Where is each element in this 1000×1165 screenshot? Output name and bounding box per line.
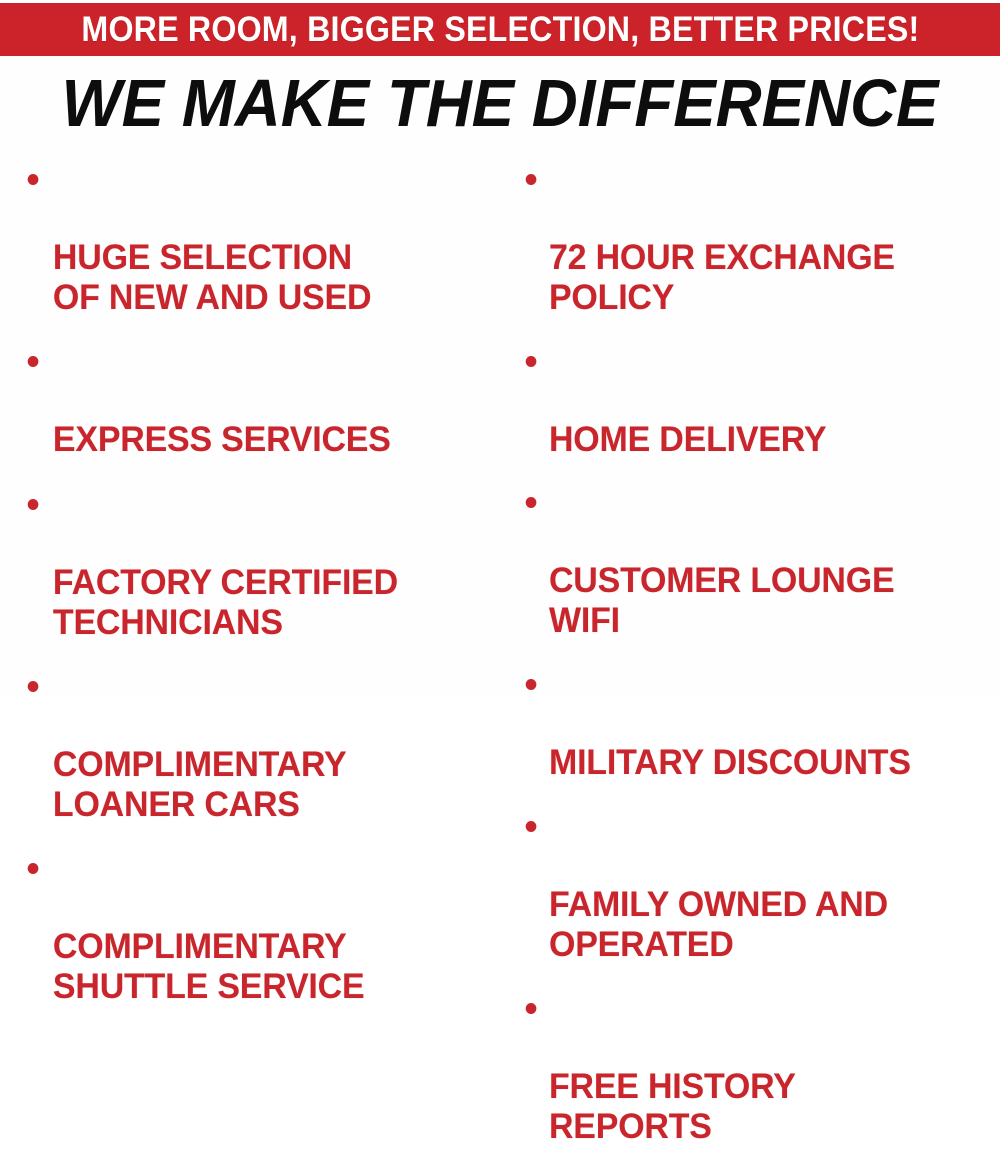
bullet-dot-icon — [526, 679, 537, 690]
banner-headline-text: MORE ROOM, BIGGER SELECTION, BETTER PRIC… — [81, 12, 919, 47]
list-item-label: COMPLIMENTARY LOANER CARS — [53, 745, 347, 824]
bullet-dot-icon — [28, 863, 39, 874]
bullet-dot-icon — [526, 356, 537, 367]
list-item-label: FACTORY CERTIFIED TECHNICIANS — [53, 563, 398, 642]
bullet-dot-icon — [526, 821, 537, 832]
list-item-label: FREE HISTORY REPORTS — [549, 1067, 796, 1146]
list-item: FAMILY OWNED AND OPERATED — [516, 805, 991, 965]
top-banner: MORE ROOM, BIGGER SELECTION, BETTER PRIC… — [0, 3, 1000, 56]
list-item: CUSTOMER LOUNGE WIFI — [516, 481, 991, 641]
list-item-label: HOME DELIVERY — [549, 420, 826, 459]
bullet-dot-icon — [526, 1003, 537, 1014]
list-item-label: 72 HOUR EXCHANGE POLICY — [549, 238, 895, 317]
bullet-dot-icon — [526, 174, 537, 185]
benefits-columns: HUGE SELECTION OF NEW AND USED EXPRESS S… — [0, 158, 1000, 694]
list-item-label: COMPLIMENTARY SHUTTLE SERVICE — [53, 927, 365, 1006]
list-item: COMPLIMENTARY LOANER CARS — [18, 665, 493, 825]
page-title: WE MAKE THE DIFFERENCE — [25, 70, 975, 138]
bullet-dot-icon — [28, 681, 39, 692]
list-item-label: MILITARY DISCOUNTS — [549, 743, 911, 782]
list-item: EXPRESS SERVICES — [18, 340, 493, 460]
promotional-poster: MORE ROOM, BIGGER SELECTION, BETTER PRIC… — [0, 0, 1000, 694]
list-item-label: EXPRESS SERVICES — [53, 420, 391, 459]
bullet-dot-icon — [28, 356, 39, 367]
list-item: MILITARY DISCOUNTS — [516, 663, 991, 783]
list-item: 72 HOUR EXCHANGE POLICY — [516, 158, 991, 318]
benefits-column-right: 72 HOUR EXCHANGE POLICY HOME DELIVERY CU… — [516, 158, 1000, 1165]
list-item: COMPLIMENTARY SHUTTLE SERVICE — [18, 847, 493, 1007]
list-item-label: CUSTOMER LOUNGE WIFI — [549, 561, 894, 640]
list-item: HUGE SELECTION OF NEW AND USED — [18, 158, 493, 318]
benefits-column-left: HUGE SELECTION OF NEW AND USED EXPRESS S… — [18, 158, 508, 1025]
list-item: FREE HISTORY REPORTS — [516, 987, 991, 1147]
bullet-dot-icon — [28, 499, 39, 510]
list-item: FACTORY CERTIFIED TECHNICIANS — [18, 483, 493, 643]
bullet-dot-icon — [526, 497, 537, 508]
bullet-dot-icon — [28, 174, 39, 185]
list-item-label: FAMILY OWNED AND OPERATED — [549, 885, 888, 964]
list-item-label: HUGE SELECTION OF NEW AND USED — [53, 238, 371, 317]
list-item: HOME DELIVERY — [516, 340, 991, 460]
